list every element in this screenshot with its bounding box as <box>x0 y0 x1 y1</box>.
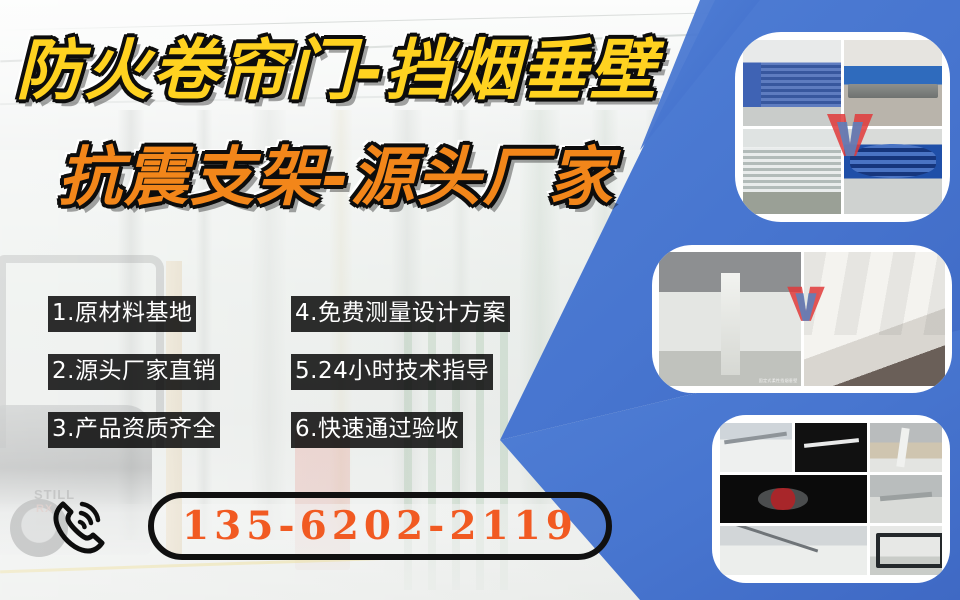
feature-item-6: 6.快速通过验收 <box>291 412 463 448</box>
collage-photo <box>720 475 867 524</box>
collage-photo <box>743 129 841 215</box>
photo-caption: 固定式柔性挡烟垂壁 <box>759 378 798 384</box>
collage-photo: 固定式柔性挡烟垂壁 <box>659 252 801 386</box>
project-site-collage[interactable]: 固定式柔性挡烟垂壁 <box>652 245 952 393</box>
feature-item-2: 2.源头厂家直销 <box>48 354 220 390</box>
contact-row[interactable]: 135-6202-2119 <box>46 492 612 560</box>
headline-secondary: 抗震支架-源头厂家 <box>58 144 615 212</box>
phone-ringing-icon <box>46 494 110 558</box>
collage-photo <box>844 40 942 126</box>
headline-primary: 防火卷帘门-挡烟垂壁 <box>16 36 657 106</box>
feature-item-1: 1.原材料基地 <box>48 296 196 332</box>
fire-shutter-door-collage[interactable] <box>735 32 950 222</box>
collage-photo <box>720 423 792 472</box>
feature-row: 2.源头厂家直销 5.24小时技术指导 <box>48 354 548 390</box>
feature-row: 3.产品资质齐全 6.快速通过验收 <box>48 412 548 448</box>
collage-photo <box>795 423 867 472</box>
collage-photo <box>720 526 867 575</box>
collage-photo <box>844 129 942 215</box>
collage-photo <box>804 252 946 386</box>
collage-photo <box>870 423 942 472</box>
feature-item-5: 5.24小时技术指导 <box>291 354 493 390</box>
feature-item-4: 4.免费测量设计方案 <box>291 296 510 332</box>
advertising-banner: STILL RX 防火卷帘门-挡烟垂壁 抗震支架-源头厂家 1.原材料基地 <box>0 0 960 600</box>
feature-list: 1.原材料基地 4.免费测量设计方案 2.源头厂家直销 5.24小时技术指导 3… <box>48 296 548 470</box>
feature-item-3: 3.产品资质齐全 <box>48 412 220 448</box>
phone-number-pill[interactable]: 135-6202-2119 <box>148 492 612 560</box>
collage-photo <box>743 40 841 126</box>
phone-number-text: 135-6202-2119 <box>182 504 578 548</box>
feature-row: 1.原材料基地 4.免费测量设计方案 <box>48 296 548 332</box>
collage-photo <box>870 526 942 575</box>
seismic-bracket-collage[interactable] <box>712 415 950 583</box>
collage-photo <box>870 475 942 524</box>
